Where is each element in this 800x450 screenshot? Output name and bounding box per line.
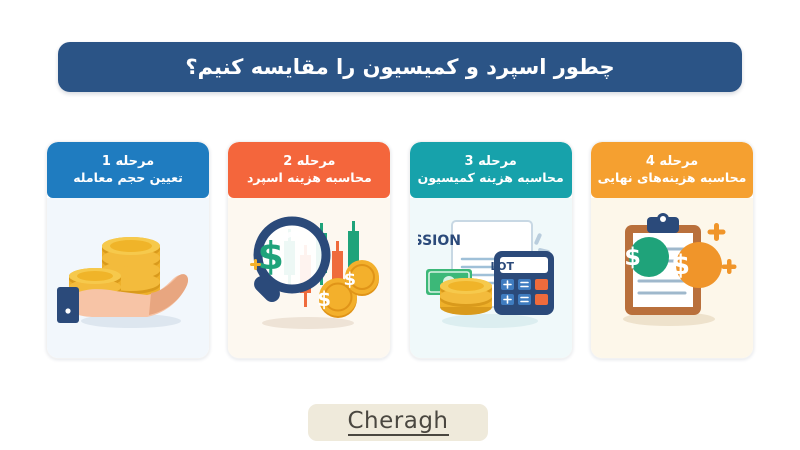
- step-card-4[interactable]: مرحله 4 محاسبه هزینه‌های نهایی: [590, 141, 754, 359]
- commission-document-calculator-icon: COMMISSION: [418, 203, 564, 353]
- step-card-3-subtitle: محاسبه هزینه کمیسیون: [418, 171, 564, 185]
- step-card-2-step-label: مرحله 2: [283, 155, 335, 169]
- step-card-2-subtitle: محاسبه هزینه اسپرد: [247, 171, 372, 185]
- brand-logo-text: Cheragh: [348, 410, 449, 436]
- step-card-3-header: مرحله 3 محاسبه هزینه کمیسیون: [410, 142, 572, 198]
- svg-text:$: $: [258, 234, 284, 278]
- svg-text:$: $: [624, 243, 641, 271]
- step-card-2-header: مرحله 2 محاسبه هزینه اسپرد: [228, 142, 390, 198]
- step-card-3-step-label: مرحله 3: [465, 155, 517, 169]
- svg-text:$: $: [344, 269, 357, 290]
- magnifier-candlestick-chart-icon: $ $ $: [236, 203, 382, 353]
- step-card-1-subtitle: تعیین حجم معامله: [73, 171, 183, 185]
- steps-row: مرحله 1 تعیین حجم معامله: [46, 141, 754, 359]
- brand-logo: Cheragh: [308, 404, 488, 441]
- step-card-4-step-label: مرحله 4: [646, 155, 698, 169]
- step-card-4-subtitle: محاسبه هزینه‌های نهایی: [598, 171, 747, 185]
- clipboard-dollars-icon: $ $: [599, 203, 745, 353]
- step-card-3[interactable]: مرحله 3 محاسبه هزینه کمیسیون COMMISSION: [409, 141, 573, 359]
- calculator-display-label: LOT: [490, 260, 514, 273]
- step-card-4-body: $ $: [591, 198, 753, 358]
- hand-holding-coins-icon: [55, 203, 201, 353]
- title-banner: چطور اسپرد و کمیسیون را مقایسه کنیم؟: [58, 42, 742, 92]
- step-card-1-header: مرحله 1 تعیین حجم معامله: [47, 142, 209, 198]
- svg-text:$: $: [671, 250, 690, 281]
- page-title: چطور اسپرد و کمیسیون را مقایسه کنیم؟: [185, 55, 614, 79]
- svg-text:$: $: [317, 287, 331, 311]
- commission-document-title: COMMISSION: [418, 233, 461, 249]
- step-card-1[interactable]: مرحله 1 تعیین حجم معامله: [46, 141, 210, 359]
- infographic-page: چطور اسپرد و کمیسیون را مقایسه کنیم؟ مرح…: [0, 0, 800, 450]
- step-card-2-body: $ $ $: [228, 198, 390, 358]
- step-card-1-body: [47, 198, 209, 358]
- step-card-4-header: مرحله 4 محاسبه هزینه‌های نهایی: [591, 142, 753, 198]
- step-card-2[interactable]: مرحله 2 محاسبه هزینه اسپرد: [227, 141, 391, 359]
- step-card-3-body: COMMISSION: [410, 198, 572, 358]
- step-card-1-step-label: مرحله 1: [102, 155, 154, 169]
